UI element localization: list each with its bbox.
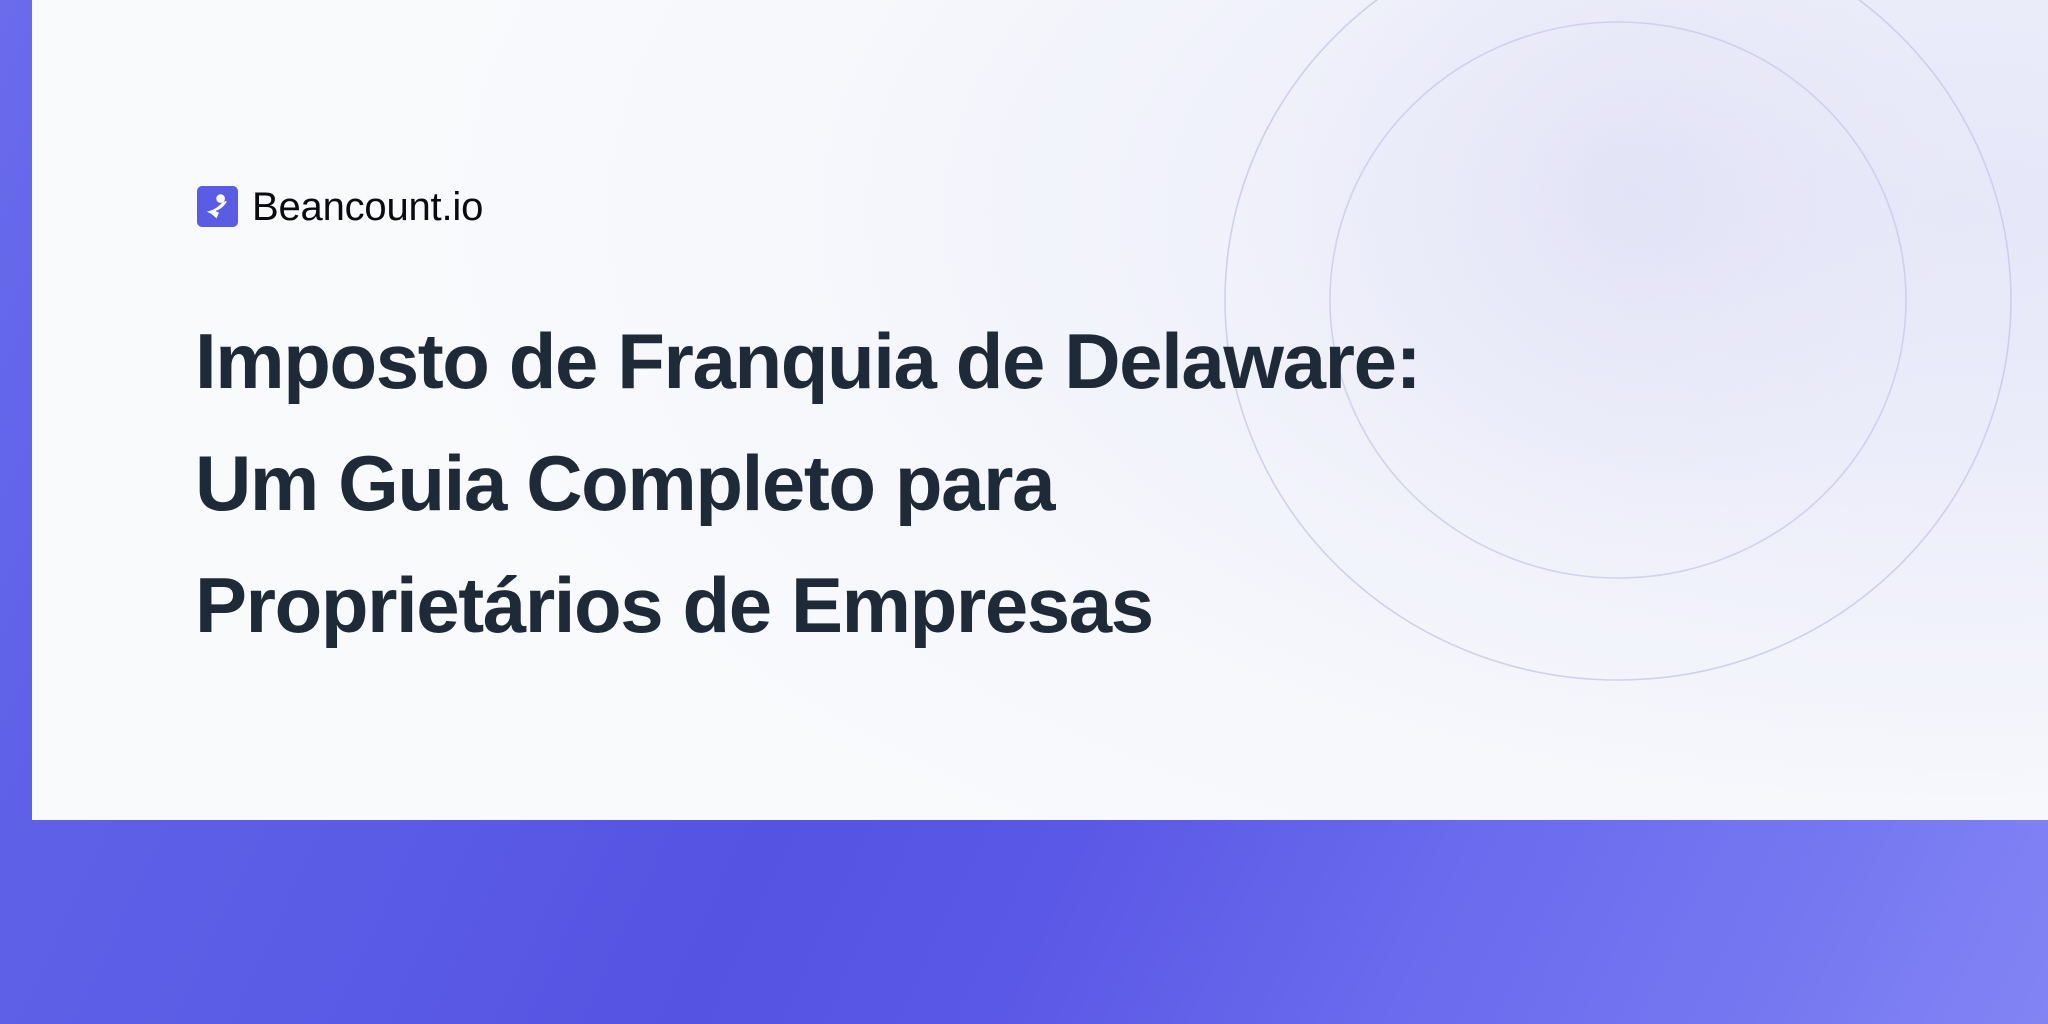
- person-figure-logo-icon: [197, 186, 238, 227]
- hero-card: Beancount.io Imposto de Franquia de Dela…: [32, 0, 2048, 820]
- social-share-card: Beancount.io Imposto de Franquia de Dela…: [0, 0, 2048, 1024]
- brand-lockup[interactable]: Beancount.io: [197, 186, 483, 227]
- page-title: Imposto de Franquia de Delaware: Um Guia…: [195, 300, 1525, 666]
- brand-name: Beancount.io: [252, 187, 483, 227]
